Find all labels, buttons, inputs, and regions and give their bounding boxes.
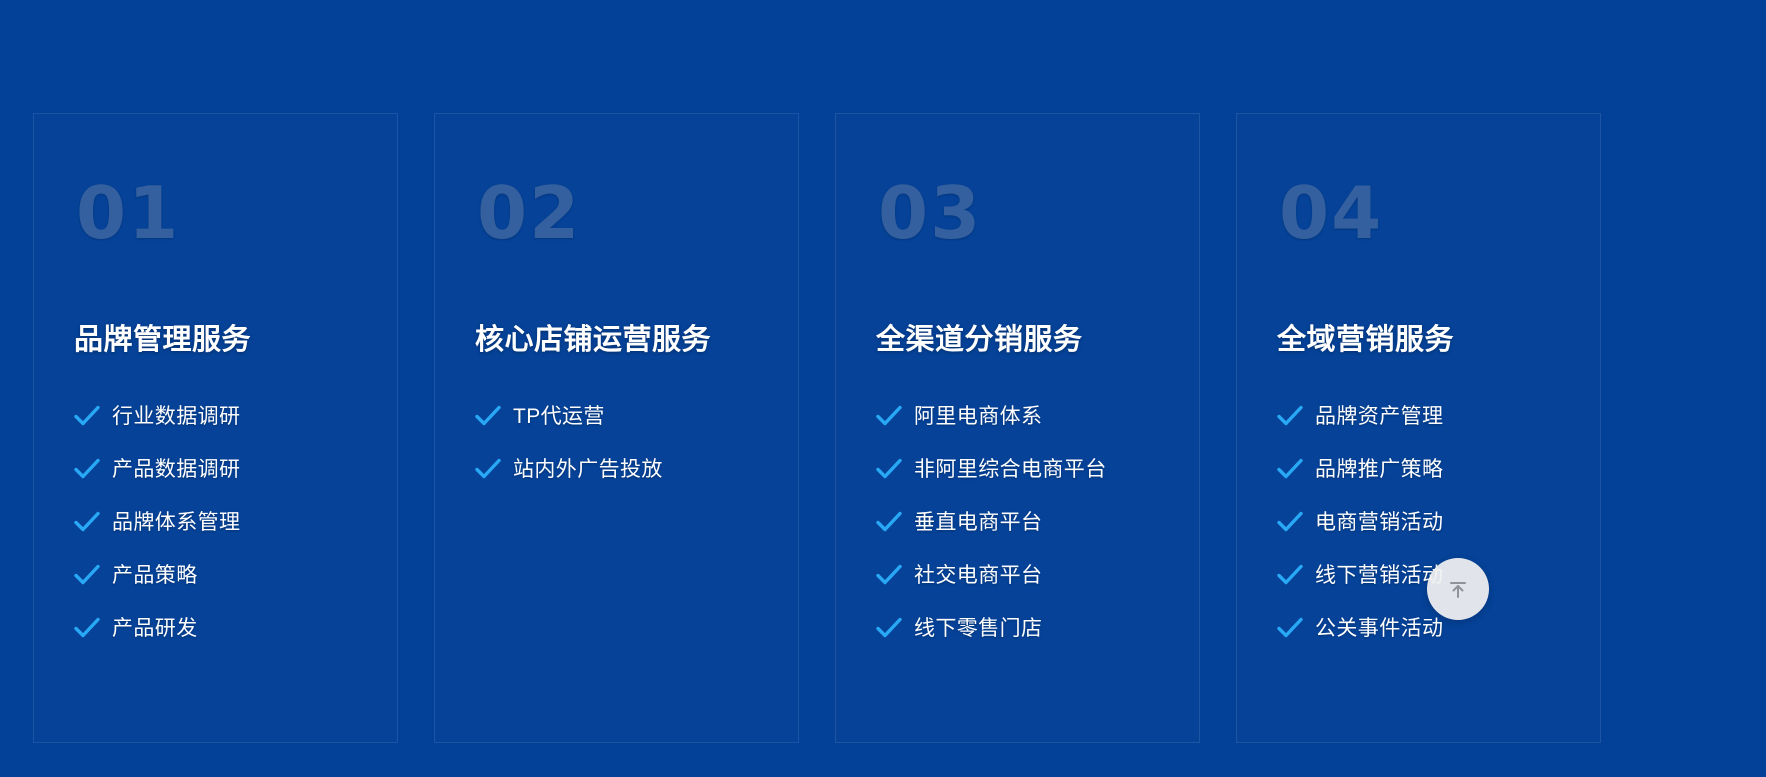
check-icon xyxy=(1277,404,1303,428)
service-card-01[interactable]: 01 品牌管理服务 行业数据调研 产品数据调研 品牌体系管理 xyxy=(33,113,398,743)
check-icon xyxy=(74,510,100,534)
service-feature-label: 垂直电商平台 xyxy=(914,512,1042,533)
service-feature-label: 产品策略 xyxy=(112,565,198,586)
service-feature-item[interactable]: 产品数据调研 xyxy=(74,443,357,496)
service-feature-label: 品牌推广策略 xyxy=(1315,459,1443,480)
service-feature-item[interactable]: 垂直电商平台 xyxy=(876,496,1159,549)
service-card-title: 全渠道分销服务 xyxy=(876,323,1159,358)
service-feature-label: 品牌体系管理 xyxy=(112,512,240,533)
check-icon xyxy=(1277,616,1303,640)
service-feature-label: 行业数据调研 xyxy=(112,406,240,427)
service-feature-label: 公关事件活动 xyxy=(1315,618,1443,639)
service-cards-section: 01 品牌管理服务 行业数据调研 产品数据调研 品牌体系管理 xyxy=(0,0,1766,777)
check-icon xyxy=(876,563,902,587)
service-feature-list: 品牌资产管理 品牌推广策略 电商营销活动 线下营销活动 xyxy=(1277,390,1560,655)
scroll-to-top-button[interactable] xyxy=(1427,558,1489,620)
service-card-number: 02 xyxy=(477,177,758,249)
service-feature-label: 非阿里综合电商平台 xyxy=(914,459,1107,480)
check-icon xyxy=(475,404,501,428)
service-feature-label: 产品研发 xyxy=(112,618,198,639)
check-icon xyxy=(876,616,902,640)
service-feature-label: TP代运营 xyxy=(513,406,605,427)
check-icon xyxy=(74,457,100,481)
service-feature-list: TP代运营 站内外广告投放 xyxy=(475,390,758,496)
service-card-list: 01 品牌管理服务 行业数据调研 产品数据调研 品牌体系管理 xyxy=(33,113,1601,743)
service-feature-item[interactable]: 行业数据调研 xyxy=(74,390,357,443)
service-feature-list: 行业数据调研 产品数据调研 品牌体系管理 产品策略 xyxy=(74,390,357,655)
service-feature-item[interactable]: 品牌推广策略 xyxy=(1277,443,1560,496)
check-icon xyxy=(74,563,100,587)
service-feature-list: 阿里电商体系 非阿里综合电商平台 垂直电商平台 社交电商平台 xyxy=(876,390,1159,655)
service-feature-item[interactable]: 非阿里综合电商平台 xyxy=(876,443,1159,496)
service-feature-label: 社交电商平台 xyxy=(914,565,1042,586)
check-icon xyxy=(74,404,100,428)
service-feature-item[interactable]: 公关事件活动 xyxy=(1277,602,1560,655)
check-icon xyxy=(1277,457,1303,481)
service-card-title: 核心店铺运营服务 xyxy=(475,323,758,358)
check-icon xyxy=(74,616,100,640)
service-feature-item[interactable]: 线下零售门店 xyxy=(876,602,1159,655)
service-card-number: 03 xyxy=(878,177,1159,249)
service-feature-item[interactable]: 社交电商平台 xyxy=(876,549,1159,602)
service-card-number: 04 xyxy=(1279,177,1560,249)
service-card-04[interactable]: 04 全域营销服务 品牌资产管理 品牌推广策略 电商营销活动 xyxy=(1236,113,1601,743)
service-feature-label: 线下零售门店 xyxy=(914,618,1042,639)
check-icon xyxy=(1277,510,1303,534)
service-card-03[interactable]: 03 全渠道分销服务 阿里电商体系 非阿里综合电商平台 垂直电商平台 xyxy=(835,113,1200,743)
service-feature-item[interactable]: TP代运营 xyxy=(475,390,758,443)
service-card-02[interactable]: 02 核心店铺运营服务 TP代运营 站内外广告投放 xyxy=(434,113,799,743)
service-card-title: 全域营销服务 xyxy=(1277,323,1560,358)
service-card-number: 01 xyxy=(76,177,357,249)
scroll-to-top-icon xyxy=(1445,576,1471,602)
check-icon xyxy=(475,457,501,481)
service-feature-label: 站内外广告投放 xyxy=(513,459,663,480)
check-icon xyxy=(1277,563,1303,587)
service-feature-label: 阿里电商体系 xyxy=(914,406,1042,427)
service-feature-item[interactable]: 站内外广告投放 xyxy=(475,443,758,496)
service-feature-item[interactable]: 线下营销活动 xyxy=(1277,549,1560,602)
service-feature-item[interactable]: 产品研发 xyxy=(74,602,357,655)
check-icon xyxy=(876,510,902,534)
check-icon xyxy=(876,404,902,428)
service-feature-item[interactable]: 电商营销活动 xyxy=(1277,496,1560,549)
service-feature-label: 电商营销活动 xyxy=(1315,512,1443,533)
service-feature-label: 品牌资产管理 xyxy=(1315,406,1443,427)
service-feature-item[interactable]: 品牌体系管理 xyxy=(74,496,357,549)
service-feature-label: 线下营销活动 xyxy=(1315,565,1443,586)
service-feature-label: 产品数据调研 xyxy=(112,459,240,480)
service-card-title: 品牌管理服务 xyxy=(74,323,357,358)
check-icon xyxy=(876,457,902,481)
service-feature-item[interactable]: 阿里电商体系 xyxy=(876,390,1159,443)
service-feature-item[interactable]: 产品策略 xyxy=(74,549,357,602)
service-feature-item[interactable]: 品牌资产管理 xyxy=(1277,390,1560,443)
